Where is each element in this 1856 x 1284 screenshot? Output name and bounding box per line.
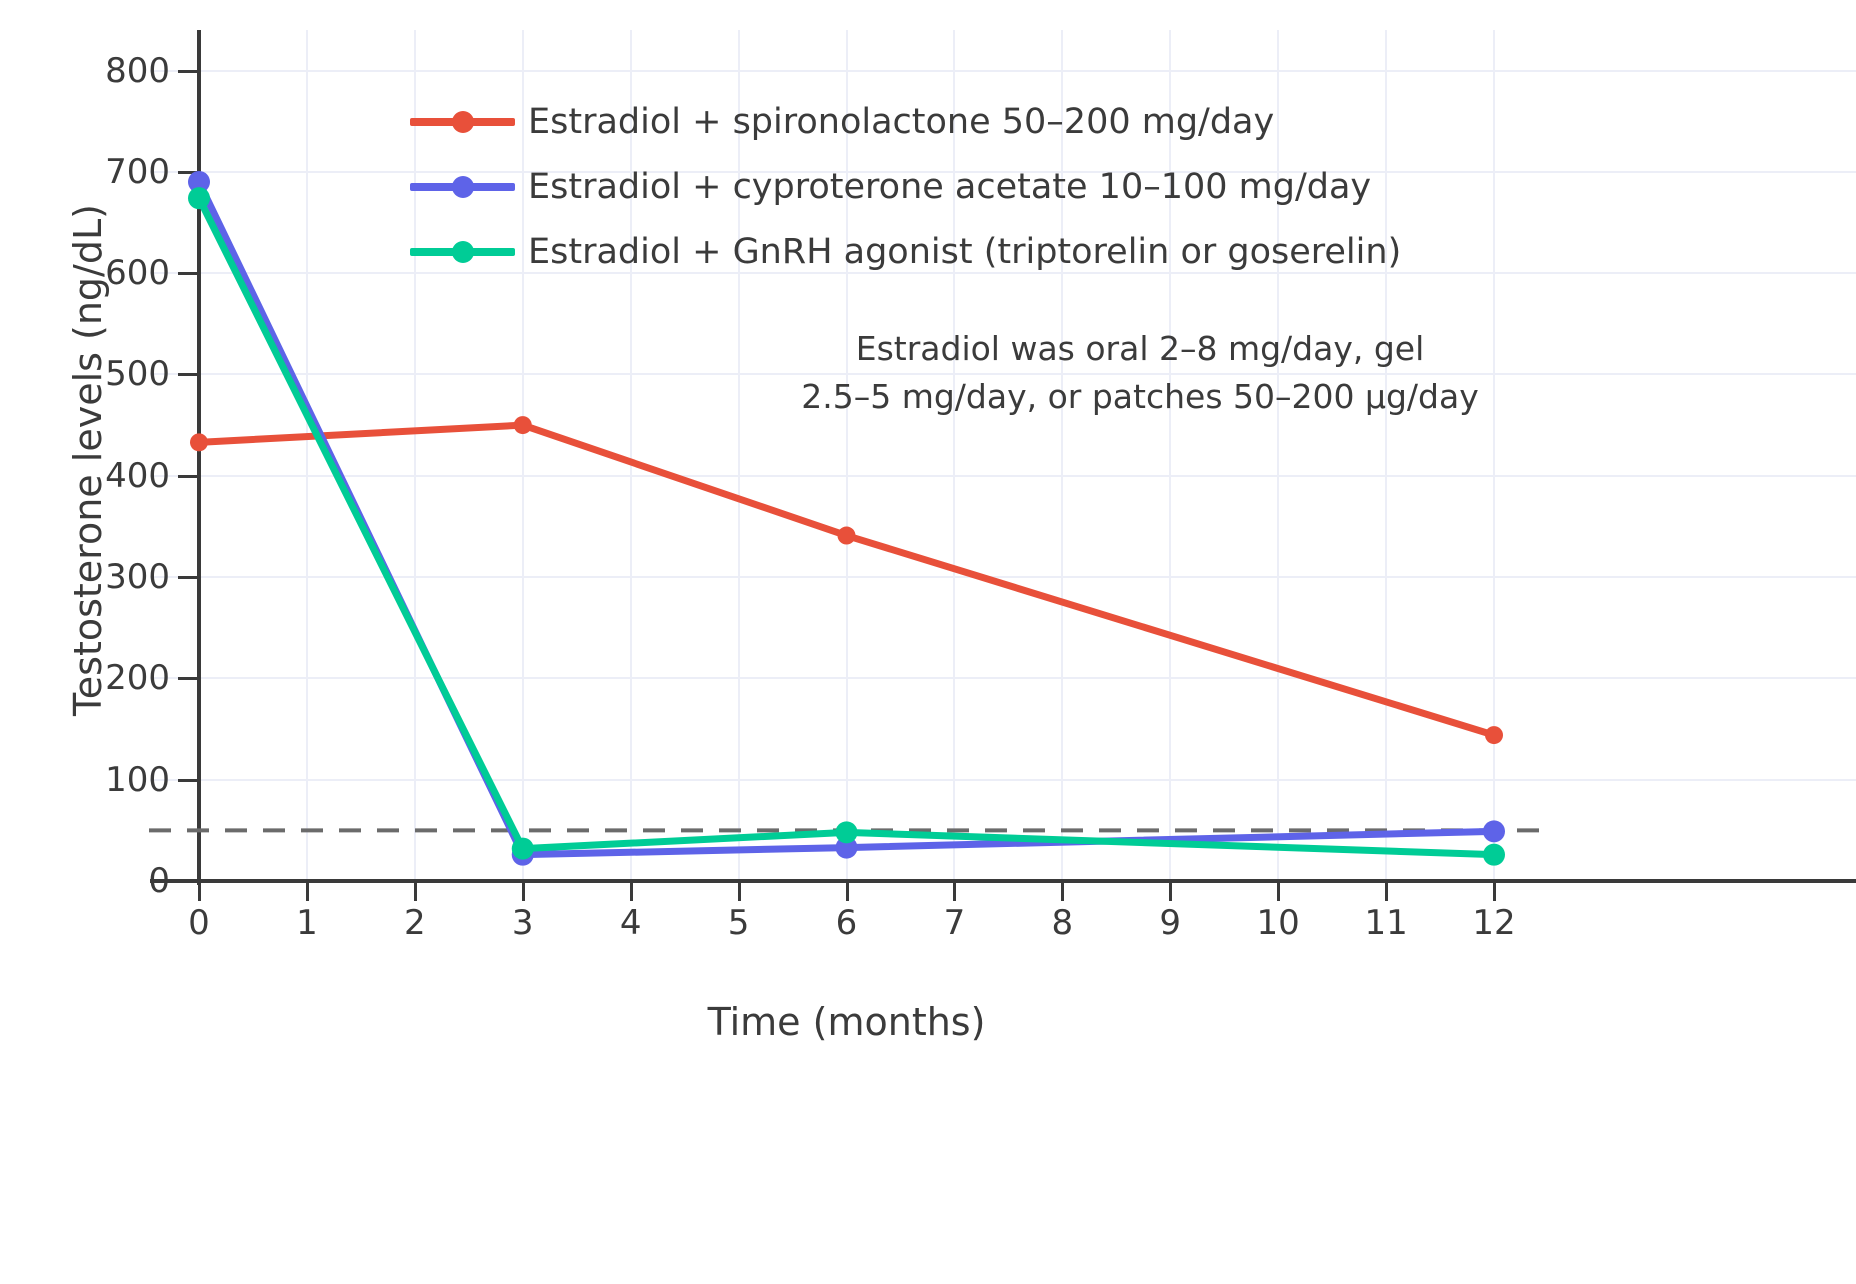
x-tick-label: 10 [1233,903,1323,943]
y-tick [178,576,198,579]
legend-label: Estradiol + cyproterone acetate 10–100 m… [528,167,1371,207]
legend-item-spironolactone[interactable]: Estradiol + spironolactone 50–200 mg/day [410,100,1401,144]
legend-label: Estradiol + spironolactone 50–200 mg/day [528,102,1274,142]
y-tick [178,272,198,275]
x-tick-label: 9 [1125,903,1215,943]
x-tick-label: 1 [262,903,352,943]
y-tick [178,373,198,376]
x-tick-label: 2 [370,903,460,943]
x-tick [953,881,956,901]
x-tick [1493,881,1496,901]
legend-item-gnrh-agonist[interactable]: Estradiol + GnRH agonist (triptorelin or… [410,230,1401,274]
x-tick [738,881,741,901]
data-point[interactable] [188,187,210,209]
data-point[interactable] [836,821,858,843]
x-tick [306,881,309,901]
legend-marker-icon [410,100,515,144]
x-tick [1169,881,1172,901]
chart-figure: 0100200300400500600700800012345678910111… [0,0,1856,1284]
y-tick [178,70,198,73]
x-tick-label: 0 [154,903,244,943]
x-tick [1385,881,1388,901]
x-tick [414,881,417,901]
x-tick-label: 6 [802,903,892,943]
x-tick [630,881,633,901]
x-tick [1061,881,1064,901]
x-tick-label: 8 [1017,903,1107,943]
x-tick-label: 3 [478,903,568,943]
y-axis-title: Testosterone levels (ng/dL) [58,10,118,910]
legend-label: Estradiol + GnRH agonist (triptorelin or… [528,232,1401,272]
x-tick [1277,881,1280,901]
y-tick [178,475,198,478]
legend-item-cyproterone-acetate[interactable]: Estradiol + cyproterone acetate 10–100 m… [410,165,1401,209]
x-tick-label: 4 [586,903,676,943]
x-tick-label: 5 [694,903,784,943]
series-line-2 [199,198,1494,854]
y-tick [178,677,198,680]
x-tick-label: 11 [1341,903,1431,943]
annotation-line-1: Estradiol was oral 2–8 mg/day, gel [770,325,1510,373]
data-point[interactable] [1485,726,1503,744]
x-tick [846,881,849,901]
series-line-1 [199,182,1494,855]
data-point[interactable] [838,527,856,545]
x-tick [522,881,525,901]
data-point[interactable] [512,838,534,860]
legend-marker-icon [410,165,515,209]
x-axis-title: Time (months) [199,1000,1494,1044]
x-tick-label: 12 [1449,903,1539,943]
data-point[interactable] [1483,844,1505,866]
annotation-line-2: 2.5–5 mg/day, or patches 50–200 µg/day [770,373,1510,421]
annotation-dosing-note: Estradiol was oral 2–8 mg/day, gel 2.5–5… [770,325,1510,421]
x-tick-label: 7 [909,903,999,943]
legend-marker-icon [410,230,515,274]
data-point[interactable] [190,433,208,451]
y-tick [178,779,198,782]
legend: Estradiol + spironolactone 50–200 mg/day… [410,100,1401,274]
data-point[interactable] [1483,820,1505,842]
data-point[interactable] [514,416,532,434]
